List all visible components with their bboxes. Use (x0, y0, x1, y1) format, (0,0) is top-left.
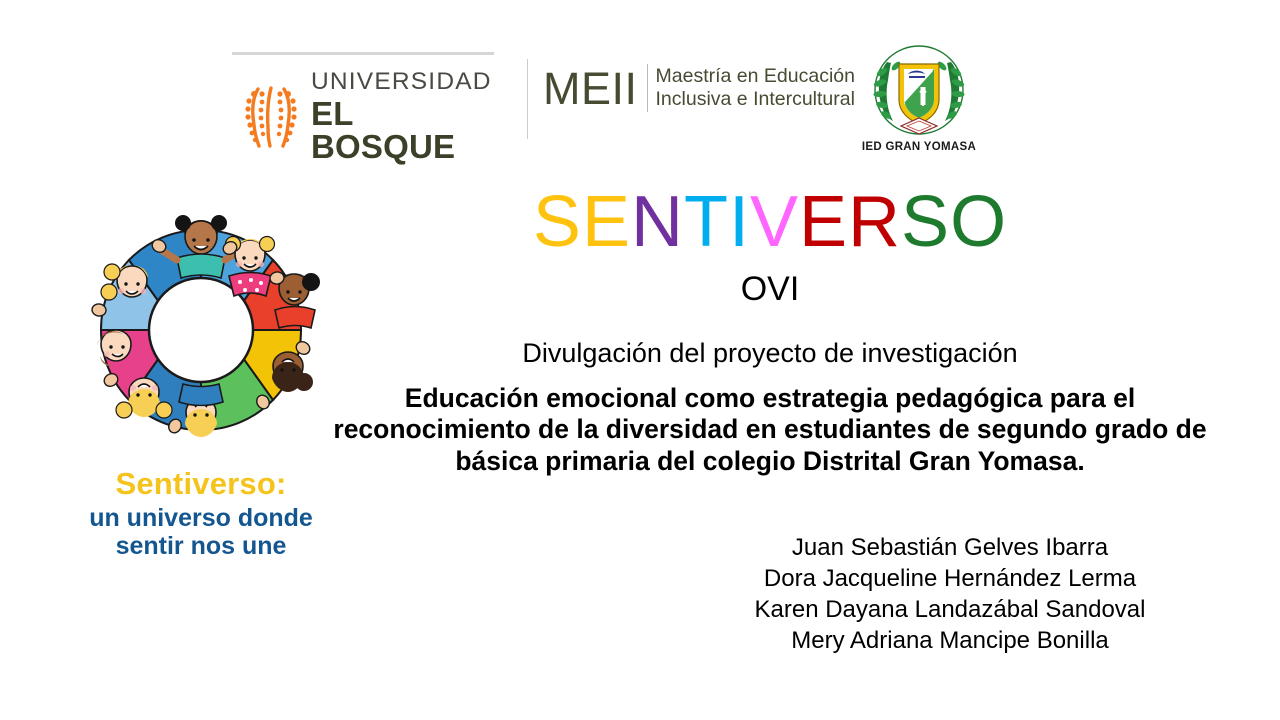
meii-acronym: MEII (543, 66, 638, 111)
ied-gran-yomasa-caption: IED GRAN YOMASA (855, 141, 983, 153)
ied-gran-yomasa-logo: IED GRAN YOMASA (855, 44, 983, 162)
elbosque-tree-mark-icon (240, 83, 302, 149)
wordmark-letter-1: E (582, 182, 631, 262)
sponsor-logo-bar: UNIVERSIDAD EL BOSQUE MEII Maestría en E… (0, 42, 1280, 162)
meii-logo: MEII Maestría en Educación Inclusiva e I… (543, 64, 855, 112)
wordmark-letter-8: S (901, 182, 950, 262)
ovi-label: OVI (320, 272, 1220, 308)
children-holding-hands-circle-icon (67, 196, 335, 464)
wordmark-letter-3: T (684, 182, 729, 262)
author-name: Juan Sebastián Gelves Ibarra (680, 533, 1220, 564)
brand-title: Sentiverso: (56, 468, 346, 501)
author-name: Karen Dayana Landazábal Sandoval (680, 595, 1220, 626)
project-title: Educación emocional como estrategia peda… (320, 383, 1220, 478)
authors-list: Juan Sebastián Gelves Ibarra Dora Jacque… (320, 533, 1220, 657)
wordmark-letter-2: N (631, 182, 684, 262)
universidad-label: UNIVERSIDAD (311, 70, 502, 95)
logo-rule-divider (232, 52, 494, 55)
brand-subtitle-line-2: sentir nos une (56, 532, 346, 560)
meii-line-1: Maestría en Educación (656, 65, 855, 88)
wordmark-letter-9: O (950, 182, 1007, 262)
laurel-shield-crest-icon (863, 44, 975, 140)
presentation-slide: UNIVERSIDAD EL BOSQUE MEII Maestría en E… (0, 0, 1280, 720)
author-name: Dora Jacqueline Hernández Lerma (680, 564, 1220, 595)
wordmark-letter-4: I (729, 182, 750, 262)
universidad-el-bosque-logo: UNIVERSIDAD EL BOSQUE (232, 52, 502, 152)
el-bosque-label: EL BOSQUE (311, 97, 502, 163)
logo-vertical-divider (527, 59, 528, 139)
wordmark-letter-6: E (799, 182, 848, 262)
sentiverso-wordmark: SENTIVERSO (320, 186, 1220, 258)
slide-main-content: SENTIVERSO OVI Divulgación del proyecto … (320, 186, 1220, 657)
slide-subtitle: Divulgación del proyecto de investigació… (320, 338, 1220, 369)
wordmark-letter-0: S (533, 182, 582, 262)
meii-inner-divider (647, 64, 648, 112)
wordmark-letter-7: R (848, 182, 901, 262)
sentiverso-brand-logo: Sentiverso: un universo donde sentir nos… (56, 196, 346, 561)
brand-subtitle-line-1: un universo donde (56, 504, 346, 532)
meii-line-2: Inclusiva e Intercultural (656, 88, 855, 111)
author-name: Mery Adriana Mancipe Bonilla (680, 626, 1220, 657)
wordmark-letter-5: V (750, 182, 799, 262)
